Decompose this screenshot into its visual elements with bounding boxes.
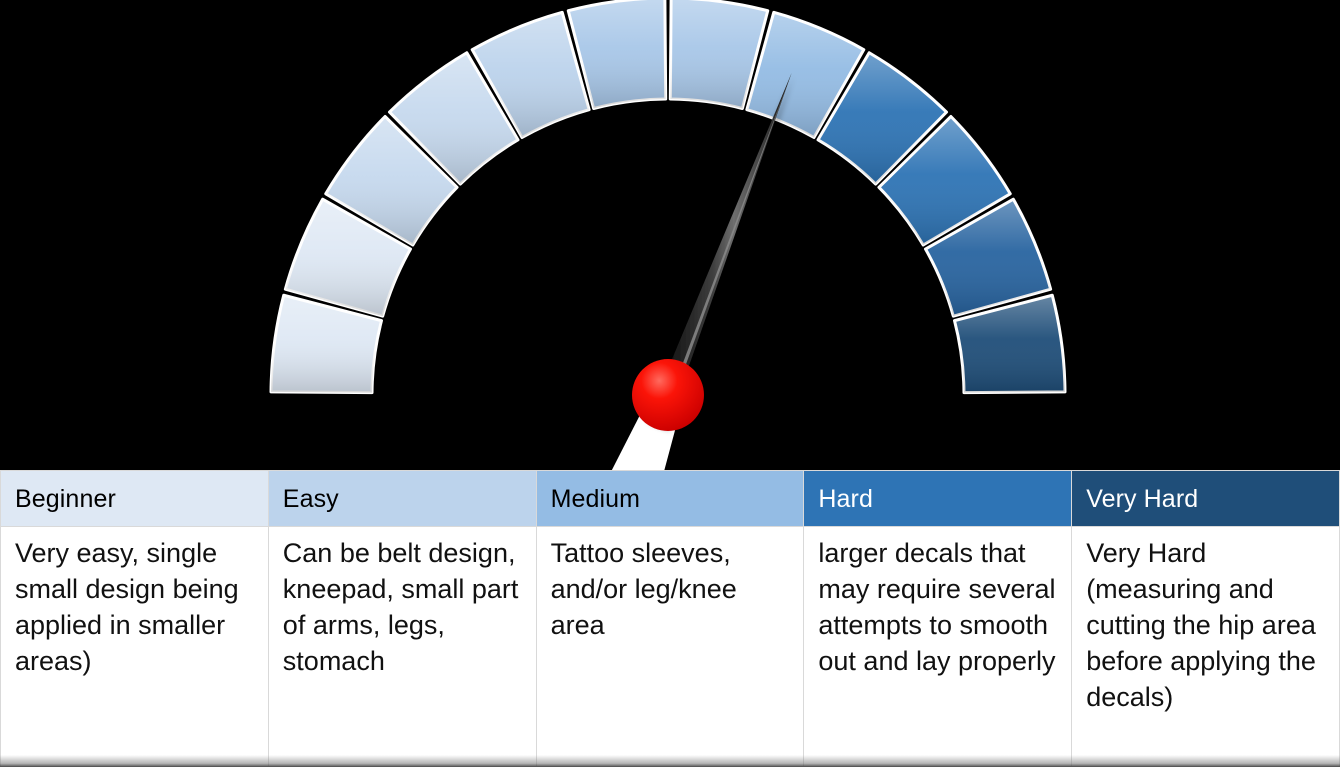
- table-header-cell-medium: Medium: [536, 471, 804, 527]
- table-header-cell-beginner: Beginner: [1, 471, 269, 527]
- table-body-cell-easy: Can be belt design, kneepad, small part …: [268, 527, 536, 767]
- column-description: Very easy, single small design being app…: [15, 535, 254, 679]
- table-body-row: Very easy, single small design being app…: [1, 527, 1340, 767]
- gauge-svg: [0, 0, 1340, 470]
- column-header-label: Very Hard: [1086, 485, 1198, 513]
- column-header-label: Easy: [283, 485, 339, 513]
- gauge-segment-group: [271, 0, 1065, 393]
- table-header-cell-hard: Hard: [804, 471, 1072, 527]
- column-description: Tattoo sleeves, and/or leg/knee area: [551, 535, 790, 643]
- gauge-center-hub: [632, 359, 704, 431]
- table-header-cell-easy: Easy: [268, 471, 536, 527]
- table-body-cell-medium: Tattoo sleeves, and/or leg/knee area: [536, 527, 804, 767]
- gauge-hub: [632, 359, 704, 431]
- column-description: larger decals that may require several a…: [818, 535, 1057, 679]
- column-header-label: Beginner: [15, 485, 116, 513]
- column-description: Very Hard (measuring and cutting the hip…: [1086, 535, 1325, 715]
- table-body-cell-hard: larger decals that may require several a…: [804, 527, 1072, 767]
- difficulty-gauge: [0, 0, 1340, 470]
- column-header-label: Hard: [818, 485, 873, 513]
- table-body-cell-very-hard: Very Hard (measuring and cutting the hip…: [1072, 527, 1340, 767]
- column-description: Can be belt design, kneepad, small part …: [283, 535, 522, 679]
- difficulty-matrix-table: BeginnerEasyMediumHardVery Hard Very eas…: [0, 470, 1340, 767]
- table-header-row: BeginnerEasyMediumHardVery Hard: [1, 471, 1340, 527]
- slide-canvas: BeginnerEasyMediumHardVery Hard Very eas…: [0, 0, 1340, 767]
- column-header-label: Medium: [551, 485, 641, 513]
- table-header-cell-very-hard: Very Hard: [1072, 471, 1340, 527]
- table-body-cell-beginner: Very easy, single small design being app…: [1, 527, 269, 767]
